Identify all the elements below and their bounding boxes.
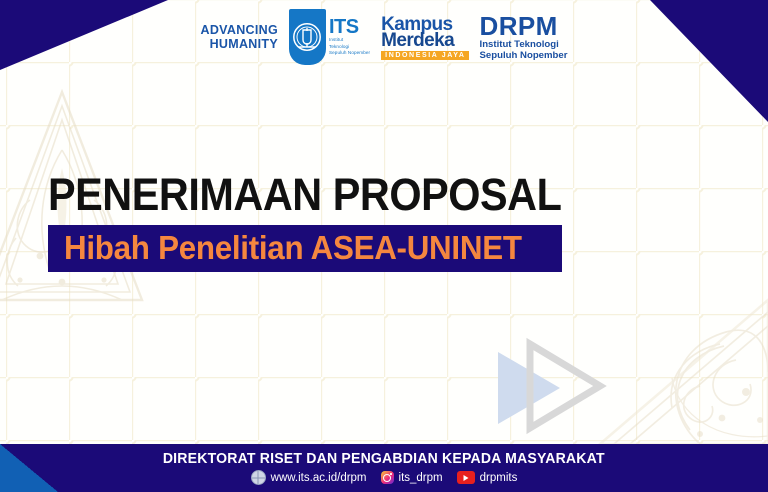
tagline-line-2: HUMANITY xyxy=(201,37,278,51)
globe-icon xyxy=(251,470,266,485)
advancing-humanity-tagline: ADVANCING HUMANITY xyxy=(201,23,278,51)
website-url: www.its.ac.id/drpm xyxy=(271,472,367,484)
its-sub-2: Teknologi xyxy=(329,44,370,51)
its-acronym: ITS xyxy=(329,17,370,37)
header-logo-bar: ADVANCING HUMANITY ITS Institut Teknolog… xyxy=(0,0,768,74)
its-shield-logo-icon xyxy=(289,9,326,65)
footer-link-instagram[interactable]: its_drpm xyxy=(381,471,443,484)
poster-canvas: ADVANCING HUMANITY ITS Institut Teknolog… xyxy=(0,0,768,492)
page-title: PENERIMAAN PROPOSAL xyxy=(48,172,674,217)
its-wordmark: ITS Institut Teknologi Sepuluh Nopember xyxy=(329,17,370,57)
footer-link-website[interactable]: www.its.ac.id/drpm xyxy=(251,470,367,485)
main-title-block: PENERIMAAN PROPOSAL Hibah Penelitian ASE… xyxy=(48,172,728,272)
kampus-merdeka-tagline: INDONESIA JAYA xyxy=(381,51,468,60)
arrow-outline xyxy=(530,344,600,428)
instagram-icon xyxy=(381,471,394,484)
footer-bar: DIREKTORAT RISET DAN PENGABDIAN KEPADA M… xyxy=(0,444,768,492)
page-subtitle: Hibah Penelitian ASEA-UNINET xyxy=(64,231,522,264)
tagline-line-1: ADVANCING xyxy=(201,23,278,37)
footer-organization-name: DIREKTORAT RISET DAN PENGABDIAN KEPADA M… xyxy=(163,451,605,467)
instagram-handle: its_drpm xyxy=(399,472,443,484)
subtitle-highlight-box: Hibah Penelitian ASEA-UNINET xyxy=(48,225,562,272)
its-sub-3: Sepuluh Nopember xyxy=(329,50,370,57)
its-sub-1: Institut xyxy=(329,37,370,44)
its-logo: ITS Institut Teknologi Sepuluh Nopember xyxy=(289,9,370,65)
drpm-logo: DRPM Institut Teknologi Sepuluh Nopember xyxy=(480,13,568,60)
youtube-handle: drpmits xyxy=(480,472,518,484)
youtube-icon xyxy=(457,471,475,484)
drpm-acronym: DRPM xyxy=(480,13,568,39)
footer-contact-links: www.its.ac.id/drpm its_drpm drpmits xyxy=(251,470,518,485)
drpm-line-2: Sepuluh Nopember xyxy=(480,51,568,61)
kampus-merdeka-logo: Kampus Merdeka INDONESIA JAYA xyxy=(381,15,468,60)
kampus-merdeka-line-2: Merdeka xyxy=(381,31,468,50)
arrow-filled xyxy=(498,352,560,424)
footer-accent-triangle xyxy=(0,444,58,492)
its-emblem-icon xyxy=(292,20,322,54)
batik-fan-ornament xyxy=(600,300,768,444)
footer-link-youtube[interactable]: drpmits xyxy=(457,471,518,484)
drpm-line-1: Institut Teknologi xyxy=(480,40,568,50)
